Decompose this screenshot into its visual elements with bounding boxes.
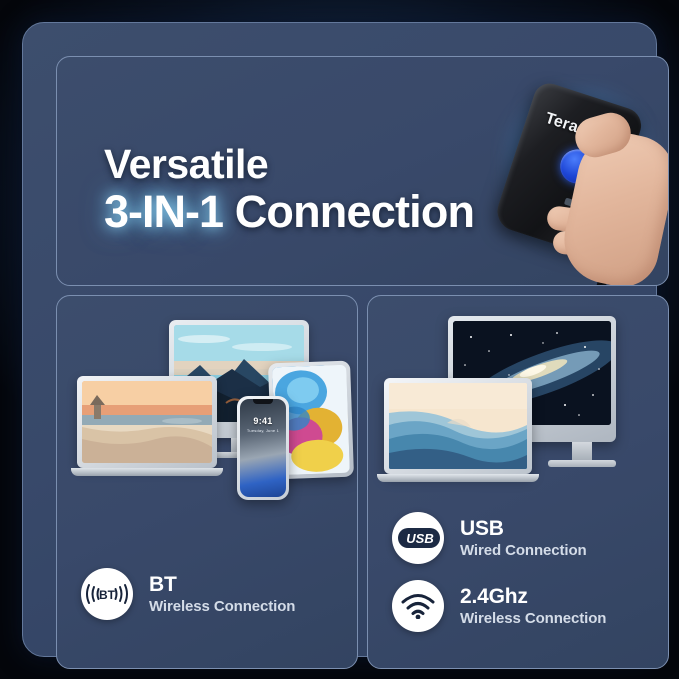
device-cluster-bluetooth: 9:41 Tuesday, June 1 <box>65 314 357 504</box>
headline-line-2: 3-IN-1 Connection <box>104 189 474 236</box>
usb-logo-glyph: USB <box>396 526 440 550</box>
headline-rest: Connection <box>223 186 474 237</box>
page-title: Versatile 3-IN-1 Connection <box>104 143 474 235</box>
svg-text:BT: BT <box>99 588 116 602</box>
macbook-base <box>71 468 223 476</box>
outer-frame: Versatile 3-IN-1 Connection Tera <box>22 22 657 657</box>
macbook-device <box>77 376 217 480</box>
iphone-device: 9:41 Tuesday, June 1 <box>237 396 289 500</box>
device-cluster-wired <box>376 314 644 486</box>
wifi-glyph <box>401 593 435 619</box>
barcode-scanner-illustration: Tera <box>455 59 669 286</box>
wifi-icon <box>392 580 444 632</box>
feature-row: 9:41 Tuesday, June 1 <box>56 295 669 669</box>
badge-subtitle: Wired Connection <box>460 542 587 560</box>
badge-text: 2.4Ghz Wireless Connection <box>460 584 606 628</box>
lockscreen-time: 9:41 <box>240 416 286 426</box>
bluetooth-card: 9:41 Tuesday, June 1 <box>56 295 358 669</box>
badge-text: BT Wireless Connection <box>149 572 295 616</box>
badge-title: USB <box>460 516 587 542</box>
imac-base <box>548 460 616 467</box>
panel-stack: Versatile 3-IN-1 Connection Tera <box>56 56 669 669</box>
bluetooth-wave-glyph: BT <box>84 581 130 607</box>
headline-accent: 3-IN-1 <box>104 186 223 237</box>
lockscreen-date: Tuesday, June 1 <box>240 428 286 433</box>
headline-line-1: Versatile <box>104 143 474 186</box>
badge-subtitle: Wireless Connection <box>460 610 606 628</box>
blue-wave-wallpaper <box>389 383 527 469</box>
svg-text:USB: USB <box>406 531 433 546</box>
macbook-base <box>377 474 539 482</box>
macbook-device <box>384 378 532 488</box>
wired-wireless-card: USB USB Wired Connection <box>367 295 669 669</box>
hero-card: Versatile 3-IN-1 Connection Tera <box>56 56 669 286</box>
usb-logo-icon: USB <box>392 512 444 564</box>
iphone-notch <box>253 399 273 404</box>
beach-sunset-wallpaper <box>82 381 212 463</box>
wifi-badge: 2.4Ghz Wireless Connection <box>392 580 606 632</box>
badge-title: BT <box>149 572 295 598</box>
iphone-screen: 9:41 Tuesday, June 1 <box>240 399 286 497</box>
badge-title: 2.4Ghz <box>460 584 606 610</box>
bluetooth-badge: BT BT Wireless Connection <box>81 568 295 620</box>
macbook-screen <box>82 381 212 463</box>
macbook-lid <box>384 378 532 474</box>
macbook-screen <box>389 383 527 469</box>
imac-stand <box>572 442 592 460</box>
usb-badge: USB USB Wired Connection <box>392 512 587 564</box>
badge-subtitle: Wireless Connection <box>149 598 295 616</box>
macbook-lid <box>77 376 217 468</box>
bluetooth-wave-icon: BT <box>81 568 133 620</box>
badge-text: USB Wired Connection <box>460 516 587 560</box>
